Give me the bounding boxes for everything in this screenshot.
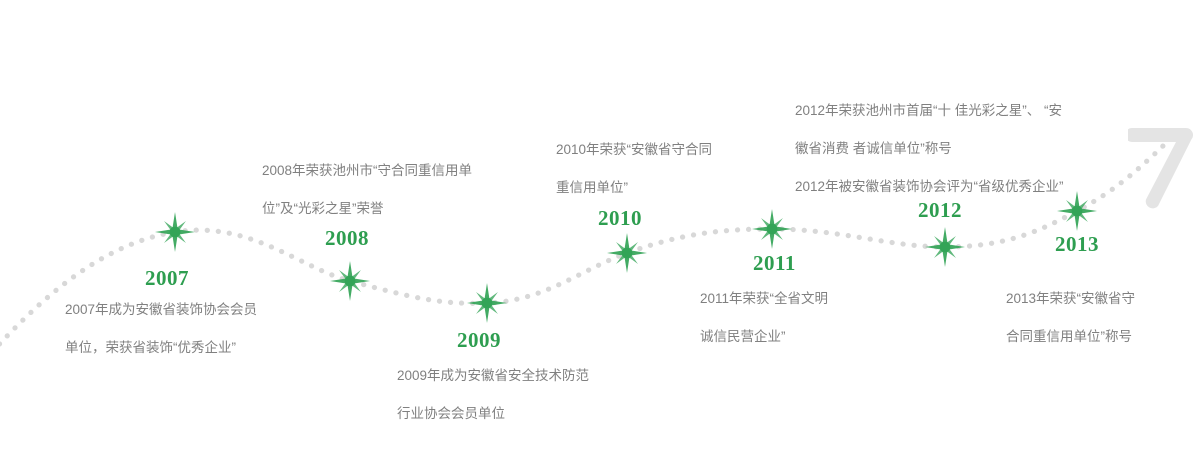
description-line: 诚信民营企业” xyxy=(700,318,828,356)
description-2012: 2012年荣获池州市首届“十 佳光彩之星”、 “安徽省消费 者诚信单位”称号20… xyxy=(795,92,1064,206)
description-line: 2007年成为安徽省装饰协会会员 xyxy=(65,291,257,329)
description-2011: 2011年荣获“全省文明诚信民营企业” xyxy=(700,280,828,356)
description-line: 重信用单位” xyxy=(556,169,712,207)
green-starburst-icon xyxy=(466,282,508,324)
green-starburst-icon xyxy=(751,208,793,250)
description-line: 2009年成为安徽省安全技术防范 xyxy=(397,357,589,395)
description-line: 位”及“光彩之星”荣誉 xyxy=(262,190,472,228)
description-line: 2008年荣获池州市“守合同重信用单 xyxy=(262,152,472,190)
description-2013: 2013年荣获“安徽省守合同重信用单位”称号 xyxy=(1006,280,1135,356)
year-label-2009: 2009 xyxy=(457,330,501,351)
description-line: 2010年荣获“安徽省守合同 xyxy=(556,131,712,169)
description-line: 合同重信用单位”称号 xyxy=(1006,318,1135,356)
green-starburst-icon xyxy=(329,260,371,302)
description-line: 2011年荣获“全省文明 xyxy=(700,280,828,318)
description-line: 行业协会会员单位 xyxy=(397,395,589,433)
year-label-2013: 2013 xyxy=(1055,234,1099,255)
description-2008: 2008年荣获池州市“守合同重信用单位”及“光彩之星”荣誉 xyxy=(262,152,472,228)
green-starburst-icon xyxy=(606,232,648,274)
green-starburst-icon xyxy=(924,226,966,268)
timeline-infographic: 20072007年成为安徽省装饰协会会员单位，荣获省装饰“优秀企业”200820… xyxy=(0,0,1200,465)
description-line: 2012年荣获池州市首届“十 佳光彩之星”、 “安 xyxy=(795,92,1064,130)
year-label-2010: 2010 xyxy=(598,208,642,229)
description-line: 2012年被安徽省装饰协会评为“省级优秀企业” xyxy=(795,168,1064,206)
description-2007: 2007年成为安徽省装饰协会会员单位，荣获省装饰“优秀企业” xyxy=(65,291,257,367)
description-2010: 2010年荣获“安徽省守合同重信用单位” xyxy=(556,131,712,207)
description-line: 2013年荣获“安徽省守 xyxy=(1006,280,1135,318)
year-label-2007: 2007 xyxy=(145,268,189,289)
green-starburst-icon xyxy=(154,211,196,253)
description-2009: 2009年成为安徽省安全技术防范行业协会会员单位 xyxy=(397,357,589,433)
seven-glyph-icon xyxy=(1128,118,1194,210)
green-starburst-icon xyxy=(1056,190,1098,232)
description-line: 单位，荣获省装饰“优秀企业” xyxy=(65,329,257,367)
description-line: 徽省消费 者诚信单位”称号 xyxy=(795,130,1064,168)
year-label-2011: 2011 xyxy=(753,253,796,274)
year-label-2008: 2008 xyxy=(325,228,369,249)
